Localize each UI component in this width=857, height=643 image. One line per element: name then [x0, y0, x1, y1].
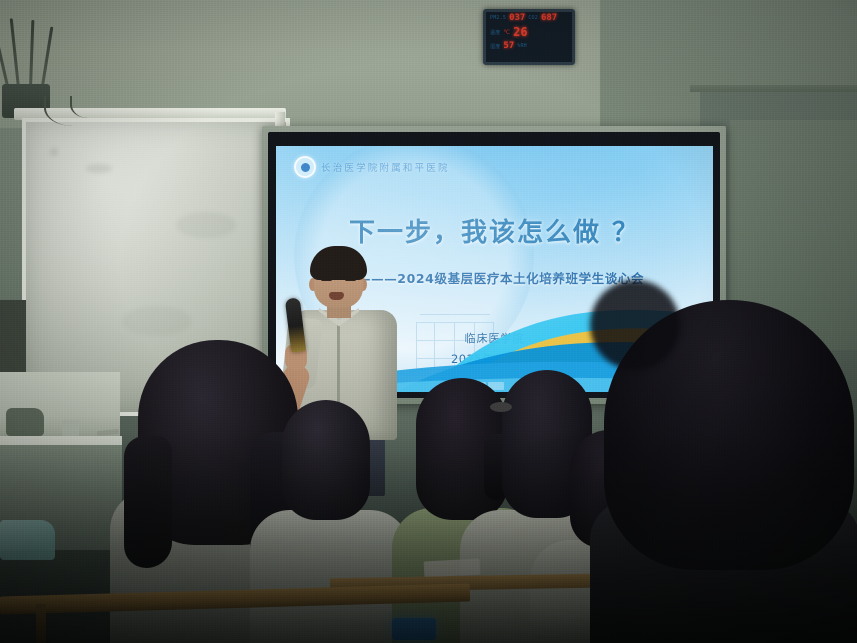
led-pm25-value: 037: [509, 13, 525, 23]
presenter-hair: [310, 246, 367, 280]
teal-cloth-item: [0, 520, 55, 560]
counter-equipment: [6, 408, 44, 436]
slide-title: 下一步，我该怎么做 ？: [276, 212, 713, 249]
led-row-humidity: 湿度 57 %RH: [486, 40, 572, 52]
led-co2-label: CO2: [528, 15, 538, 21]
led-row-air: PM2.5 037 CO2 687: [486, 12, 572, 24]
led-humidity-value: 57: [503, 41, 514, 51]
counter-cup: [62, 420, 79, 437]
hair-clip: [490, 402, 512, 412]
presenter-mouth: [329, 292, 344, 300]
desk-paper: [424, 559, 481, 578]
desk-leg: [36, 604, 46, 643]
led-temp-label: 温度: [490, 29, 500, 36]
led-temp-unit: ℃: [503, 29, 510, 36]
led-co2-value: 687: [541, 13, 557, 23]
led-pm25-label: PM2.5: [490, 15, 506, 21]
classroom-photo-scene: PM2.5 037 CO2 687 温度 ℃ 26 湿度 57 %RH: [0, 0, 857, 643]
led-humidity-label: 湿度: [490, 43, 500, 50]
slide-logo: 长治医学院附属和平医院: [294, 156, 450, 178]
led-temp-value: 26: [513, 25, 527, 39]
led-humidity-unit: %RH: [517, 43, 527, 49]
student-far-right: [590, 300, 857, 643]
slide-logo-text: 长治医学院附属和平医院: [321, 160, 450, 174]
led-row-temp: 温度 ℃ 26: [486, 24, 572, 40]
phone-screen: [392, 618, 436, 640]
institution-logo-icon: [294, 156, 316, 178]
wall-trim-line: [690, 85, 857, 92]
led-environment-display: PM2.5 037 CO2 687 温度 ℃ 26 湿度 57 %RH: [483, 9, 575, 65]
